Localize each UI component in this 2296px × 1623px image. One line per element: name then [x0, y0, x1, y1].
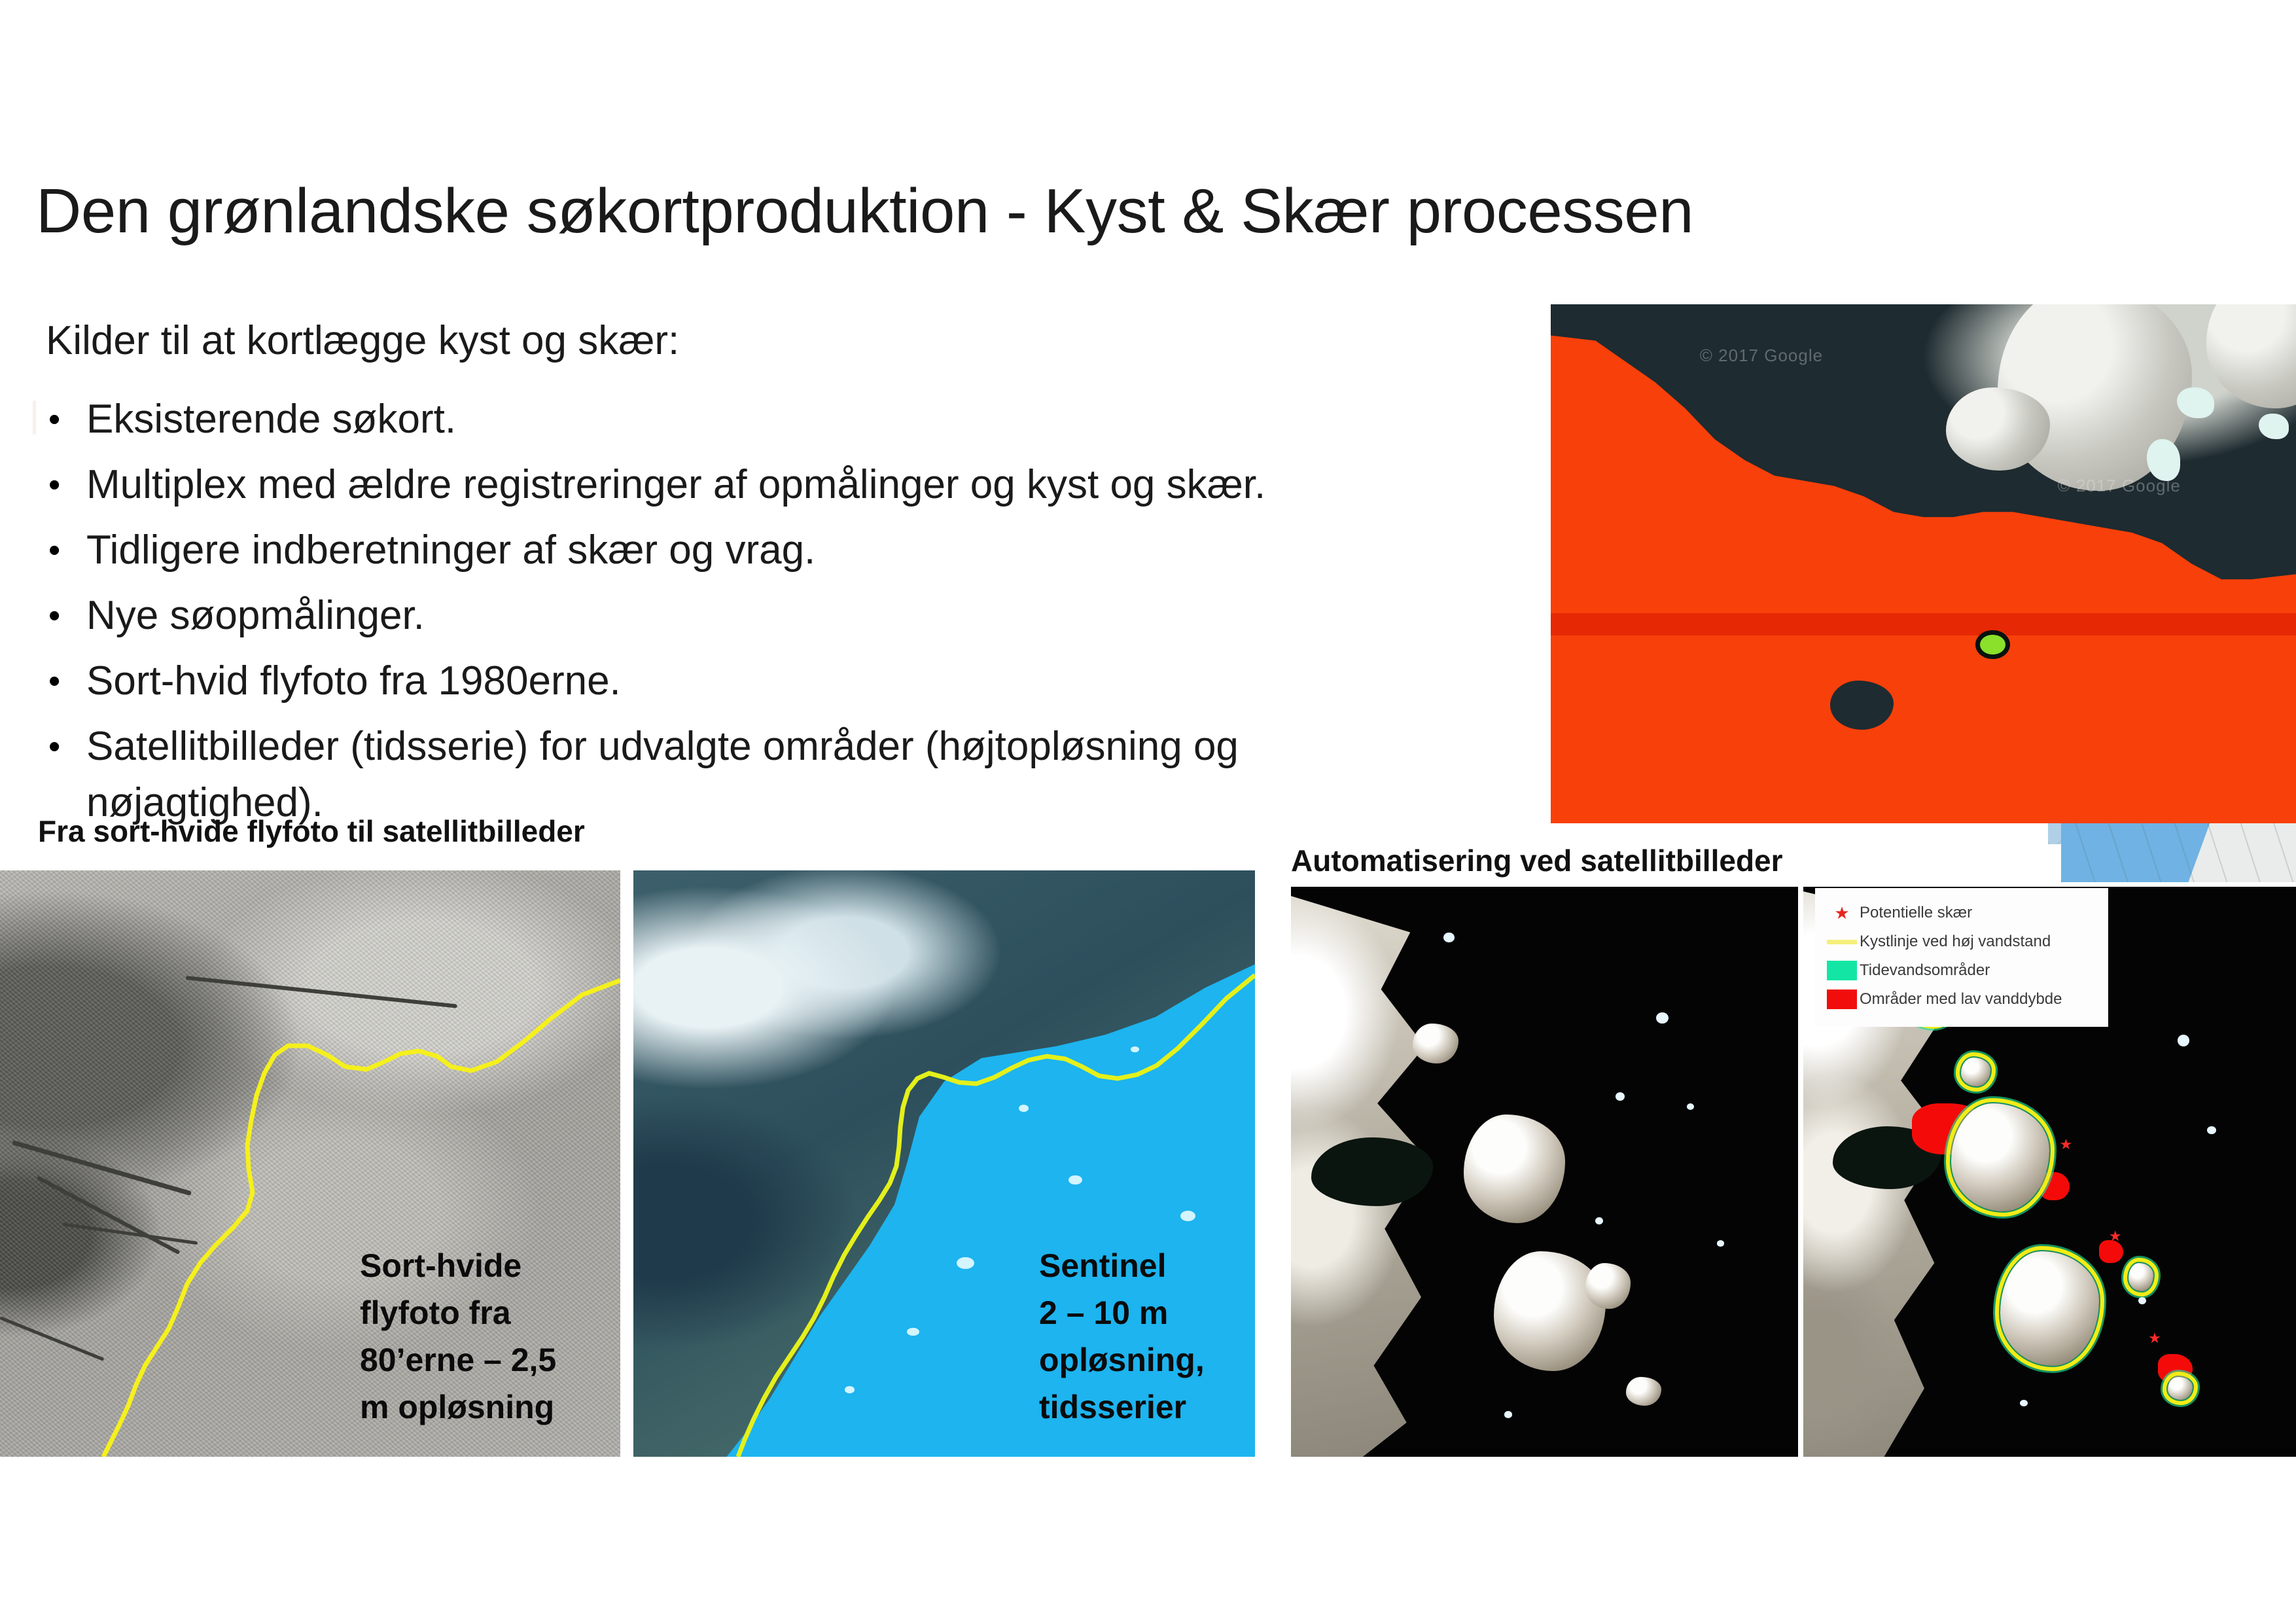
list-item-label: Eksisterende søkort.	[86, 391, 1498, 448]
color-swatch-icon	[1824, 990, 1860, 1009]
list-item: • Tidligere indberetninger af skær og vr…	[39, 522, 1498, 579]
bright-speck	[1504, 1411, 1512, 1418]
watermark-right: © 2017 Google	[2058, 476, 2181, 496]
line-swatch-icon	[1824, 940, 1860, 944]
bright-speck	[1616, 1092, 1625, 1101]
section-caption-left: Fra sort-hvide flyfoto til satellitbille…	[38, 813, 585, 849]
bullet-marker-icon: •	[39, 653, 86, 709]
watermark-left: © 2017 Google	[1700, 346, 1823, 366]
legend-label: Områder med lav vanddybde	[1860, 990, 2062, 1008]
reef-marker-icon	[1975, 630, 2009, 659]
list-item: • Eksisterende søkort.	[39, 391, 1498, 448]
bright-speck	[2020, 1400, 2028, 1406]
water-speck	[1180, 1211, 1195, 1221]
bullet-marker-icon: •	[39, 457, 86, 513]
list-item-label: Multiplex med ældre registreringer af op…	[86, 457, 1498, 513]
color-swatch-icon	[1824, 961, 1860, 980]
legend-row: Områder med lav vanddybde	[1824, 985, 2099, 1014]
island-outlined	[2168, 1377, 2193, 1400]
bright-speck	[2207, 1126, 2216, 1134]
bright-speck	[1443, 933, 1455, 943]
list-item: • Nye søopmålinger.	[39, 588, 1498, 644]
water-speck	[957, 1257, 974, 1269]
island	[1494, 1251, 1606, 1371]
island	[1464, 1115, 1565, 1222]
legend-row: Kystlinje ved høj vandstand	[1824, 927, 2099, 956]
legend-row: Tidevandsområder	[1824, 956, 2099, 985]
water-speck	[1019, 1105, 1029, 1112]
potential-reef-star-icon: ★	[2148, 1331, 2161, 1346]
dark-lagoon	[1311, 1137, 1433, 1206]
potential-reef-star-icon: ★	[2060, 1137, 2073, 1152]
list-item: • Multiplex med ældre registreringer af …	[39, 457, 1498, 513]
bright-speck	[1595, 1217, 1603, 1224]
bw-aerial-photo: Sort-hvide flyfoto fra 80’erne – 2,5 m o…	[0, 870, 620, 1457]
bright-speck	[1717, 1240, 1724, 1247]
island-outlined	[1951, 1103, 2050, 1211]
legend-label: Tidevandsområder	[1860, 961, 1990, 980]
list-item-label: Tidligere indberetninger af skær og vrag…	[86, 522, 1498, 579]
nautical-chart-strip	[2061, 823, 2296, 882]
island	[1413, 1024, 1458, 1063]
star-icon: ★	[1824, 904, 1860, 921]
scanline-band	[1551, 613, 2296, 635]
list-item-label: Sort-hvid flyfoto fra 1980erne.	[86, 653, 1498, 709]
sentinel-photo-caption: Sentinel 2 – 10 m opløsning, tidsserier	[1039, 1242, 1205, 1431]
bullet-marker-icon: •	[39, 522, 86, 579]
sentinel-satellite-photo: Sentinel 2 – 10 m opløsning, tidsserier	[633, 870, 1255, 1457]
water-speck	[1131, 1046, 1139, 1052]
island	[1626, 1377, 1661, 1406]
island-outlined	[1961, 1058, 1990, 1086]
raw-satellite-photo: Autogenererede objekter – stadigvæk beho…	[1291, 887, 1798, 1457]
bullet-marker-icon: •	[39, 719, 86, 775]
water-speck	[907, 1328, 919, 1336]
legend-label: Potentielle skær	[1860, 904, 1972, 922]
intro-text: Kilder til at kortlægge kyst og skær:	[46, 317, 679, 364]
water-speck	[1069, 1175, 1082, 1185]
bullet-marker-icon: •	[39, 588, 86, 644]
legend-label: Kystlinje ved høj vandstand	[1860, 933, 2051, 951]
left-margin-tick	[33, 401, 36, 435]
island-outlined	[2000, 1251, 2099, 1365]
list-item: • Sort-hvid flyfoto fra 1980erne.	[39, 653, 1498, 709]
list-item-label: Nye søopmålinger.	[86, 588, 1498, 644]
bright-speck	[2178, 1035, 2189, 1046]
map-legend: ★ Potentielle skær Kystlinje ved høj van…	[1815, 888, 2108, 1027]
bright-speck	[1656, 1012, 1669, 1024]
shoal-overlay-photo: © 2017 Google © 2017 Google	[1551, 304, 2296, 823]
section-caption-right: Automatisering ved satellitbilleder	[1291, 843, 1783, 878]
bullet-marker-icon: •	[39, 391, 86, 448]
island-outlined	[2128, 1263, 2153, 1292]
legend-row: ★ Potentielle skær	[1824, 899, 2099, 927]
bw-photo-caption: Sort-hvide flyfoto fra 80’erne – 2,5 m o…	[360, 1242, 556, 1431]
water-speck	[845, 1386, 855, 1393]
island	[1585, 1263, 1631, 1309]
page-title: Den grønlandske søkortproduktion - Kyst …	[36, 175, 1693, 247]
bright-speck	[1687, 1103, 1695, 1110]
source-bullet-list: • Eksisterende søkort. • Multiplex med æ…	[39, 391, 1498, 840]
classified-satellite-photo: ★ ★ ★ ★ ★ Potentielle skær Kystlinje ved…	[1803, 887, 2296, 1457]
potential-reef-star-icon: ★	[2109, 1229, 2122, 1243]
slide-canvas: Den grønlandske søkortproduktion - Kyst …	[0, 0, 2296, 1623]
bright-speck	[2138, 1297, 2146, 1304]
